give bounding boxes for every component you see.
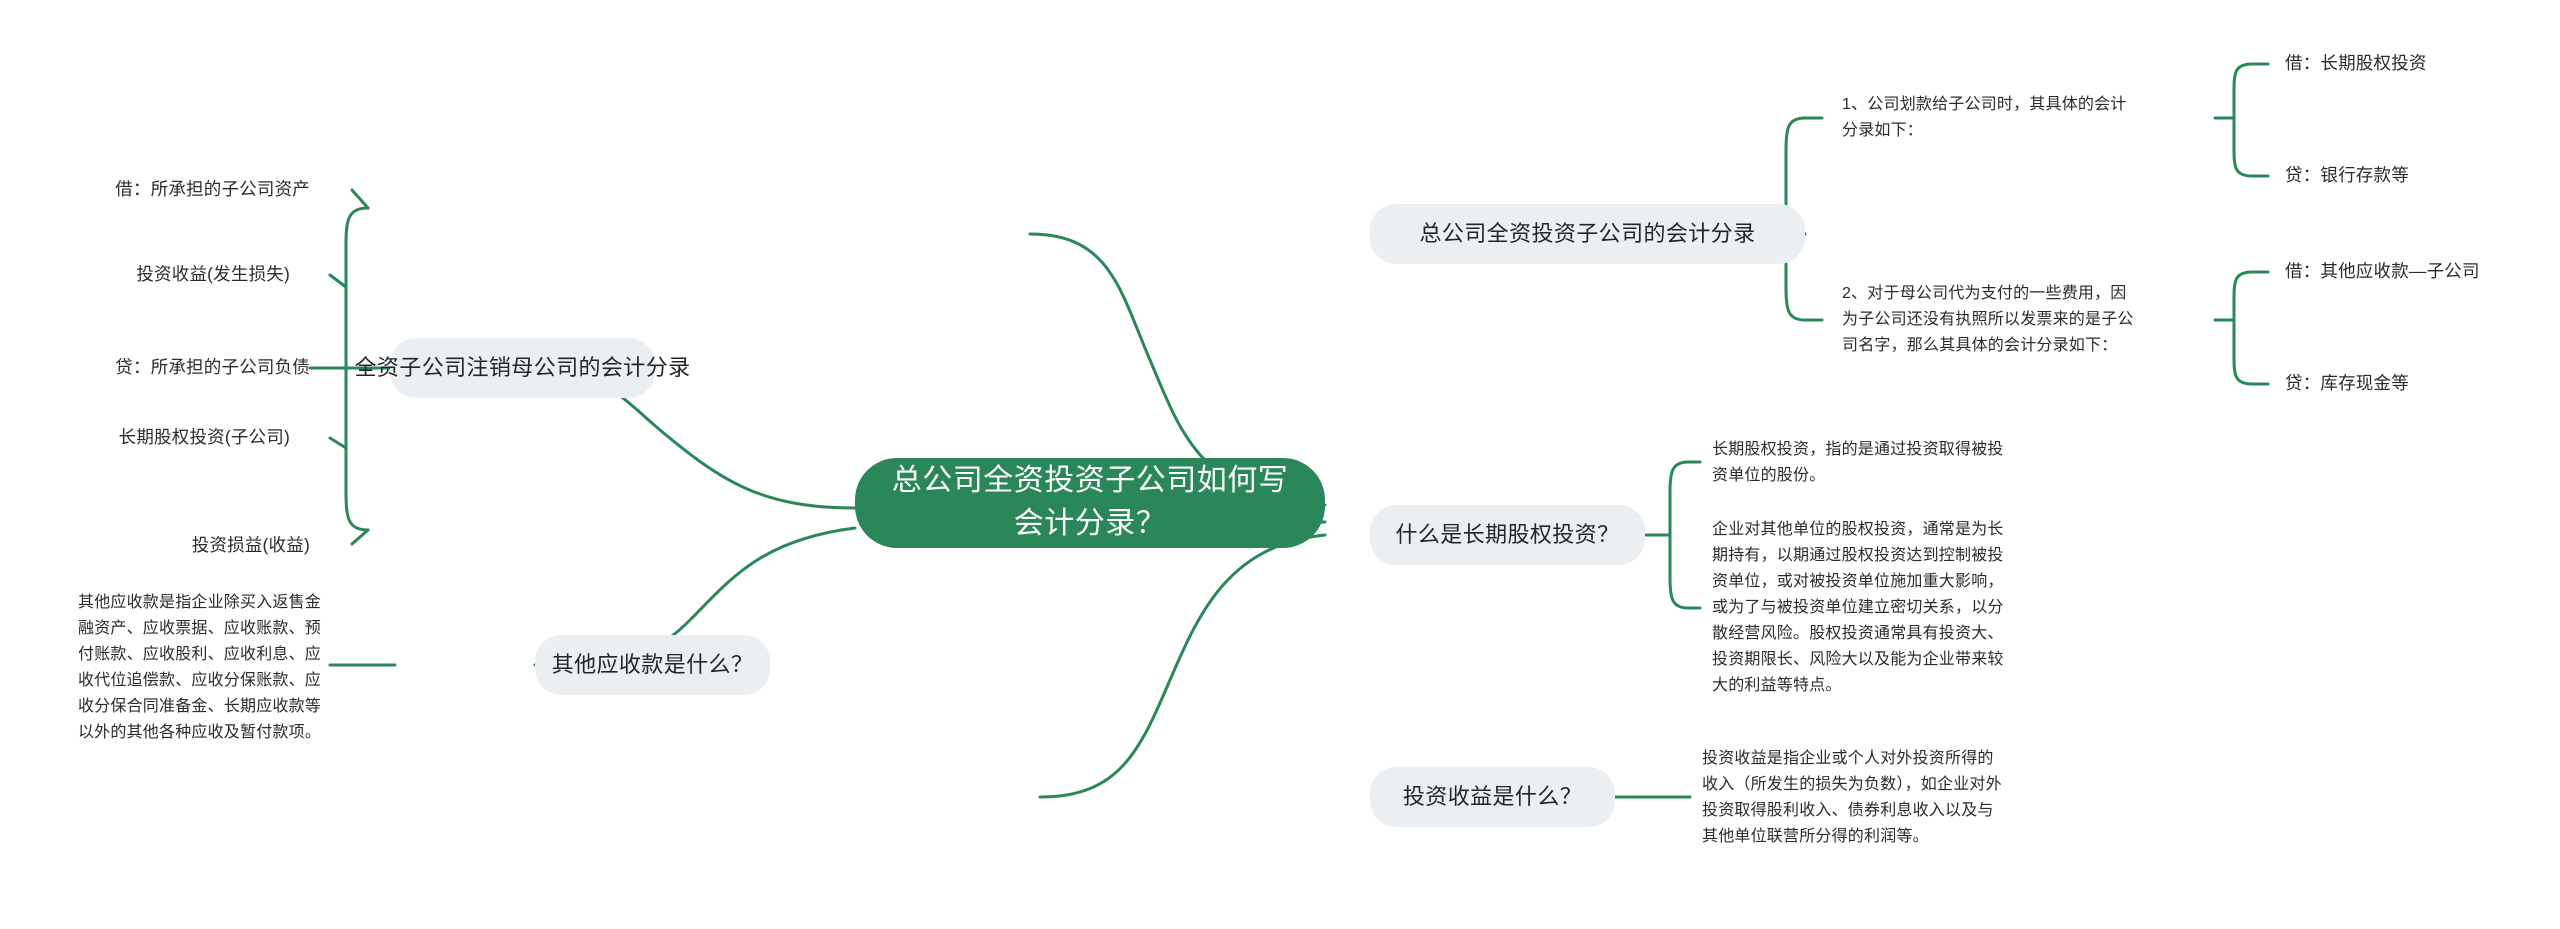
branch-node-other-receivables-label: 其他应收款是什么？ (552, 650, 754, 680)
note-lte-def-1[interactable]: 长期股权投资，指的是通过投资取得被投资单位的股份。 (1712, 432, 2012, 494)
wire-leaf-debit-assets (352, 190, 368, 208)
branch-node-other-receivables[interactable]: 其他应收款是什么？ (535, 635, 770, 695)
wire-root-to-invest-income (1040, 535, 1325, 797)
leaf-invest-income-loss[interactable]: 投资收益(发生损失) (20, 260, 290, 290)
leaf-debit-assets-label: 借：所承担的子公司资产 (115, 177, 310, 203)
leaf-invest-profit-loss-label: 投资损益(收益) (192, 533, 310, 559)
note-other-receivables-label: 其他应收款是指企业除买入返售金融资产、应收票据、应收账款、预付账款、应收股利、应… (78, 590, 336, 745)
branch-node-what-is-invest-income-label: 投资收益是什么？ (1403, 782, 1582, 812)
note-invest-income[interactable]: 投资收益是指企业或个人对外投资所得的收入（所发生的损失为负数），如企业对外投资取… (1702, 733, 2007, 863)
wire-leaf-lte-sub (330, 438, 346, 448)
branch-node-entries-label: 总公司全资投资子公司的会计分录 (1419, 219, 1755, 249)
note-entry-1[interactable]: 1、公司划款给子公司时，其具体的会计分录如下： (1842, 86, 2142, 150)
branch-node-what-is-invest-income[interactable]: 投资收益是什么？ (1370, 767, 1615, 827)
leaf-debit-assets[interactable]: 借：所承担的子公司资产 (20, 175, 310, 205)
note-entry-2[interactable]: 2、对于母公司代为支付的一些费用，因为子公司还没有执照所以发票来的是子公司名字，… (1842, 265, 2142, 375)
leaf-credit-liabilities-label: 贷：所承担的子公司负债 (115, 355, 310, 381)
branch-node-cancel-parent[interactable]: 全资子公司注销母公司的会计分录 (390, 338, 655, 398)
root-node[interactable]: 总公司全资投资子公司如何写会计分录？ (855, 458, 1325, 548)
leaf-credit-cash-on-hand[interactable]: 贷：库存现金等 (2285, 370, 2555, 398)
leaf-invest-profit-loss[interactable]: 投资损益(收益) (20, 531, 310, 561)
wire-leaf-invest-profit-loss (352, 530, 368, 544)
leaf-debit-long-term-equity-label: 借：长期股权投资 (2285, 51, 2427, 77)
leaf-debit-other-receivable-sub-label: 借：其他应收款—子公司 (2285, 259, 2480, 285)
note-lte-def-2-label: 企业对其他单位的股权投资，通常是为长期持有，以期通过股权投资达到控制被投资单位，… (1712, 517, 2012, 698)
leaf-credit-bank-deposit-label: 贷：银行存款等 (2285, 163, 2409, 189)
wire-lte-spine (1670, 462, 1688, 608)
leaf-credit-cash-on-hand-label: 贷：库存现金等 (2285, 371, 2409, 397)
leaf-long-term-equity-sub[interactable]: 长期股权投资(子公司) (20, 423, 290, 453)
wire-leaf-invest-income-loss (330, 275, 346, 287)
note-lte-def-1-label: 长期股权投资，指的是通过投资取得被投资单位的股份。 (1712, 437, 2012, 489)
leaf-invest-income-loss-label: 投资收益(发生损失) (136, 262, 290, 288)
leaf-credit-bank-deposit[interactable]: 贷：银行存款等 (2285, 162, 2555, 190)
leaf-credit-liabilities[interactable]: 贷：所承担的子公司负债 (20, 353, 310, 383)
leaf-debit-other-receivable-sub[interactable]: 借：其他应收款—子公司 (2285, 258, 2560, 286)
branch-node-what-is-lte-label: 什么是长期股权投资？ (1395, 520, 1619, 550)
branch-node-what-is-lte[interactable]: 什么是长期股权投资？ (1370, 505, 1645, 565)
leaf-debit-long-term-equity[interactable]: 借：长期股权投资 (2285, 50, 2555, 78)
note-invest-income-label: 投资收益是指企业或个人对外投资所得的收入（所发生的损失为负数），如企业对外投资取… (1702, 746, 2007, 850)
note-other-receivables[interactable]: 其他应收款是指企业除买入返售金融资产、应收票据、应收账款、预付账款、应收股利、应… (78, 598, 336, 738)
branch-node-cancel-parent-label: 全资子公司注销母公司的会计分录 (355, 353, 691, 383)
note-entry-1-label: 1、公司划款给子公司时，其具体的会计分录如下： (1842, 92, 2142, 144)
wire-entry2-spine (2234, 272, 2252, 384)
note-entry-2-label: 2、对于母公司代为支付的一些费用，因为子公司还没有执照所以发票来的是子公司名字，… (1842, 281, 2142, 359)
leaf-long-term-equity-sub-label: 长期股权投资(子公司) (119, 425, 290, 451)
branch-node-entries[interactable]: 总公司全资投资子公司的会计分录 (1370, 204, 1805, 264)
root-node-label: 总公司全资投资子公司如何写会计分录？ (881, 460, 1299, 545)
note-lte-def-2[interactable]: 企业对其他单位的股权投资，通常是为长期持有，以期通过股权投资达到控制被投资单位，… (1712, 522, 2012, 694)
mindmap-canvas: 总公司全资投资子公司如何写会计分录？ 全资子公司注销母公司的会计分录 借：所承担… (0, 0, 2560, 929)
wire-entry1-spine (2234, 64, 2252, 176)
